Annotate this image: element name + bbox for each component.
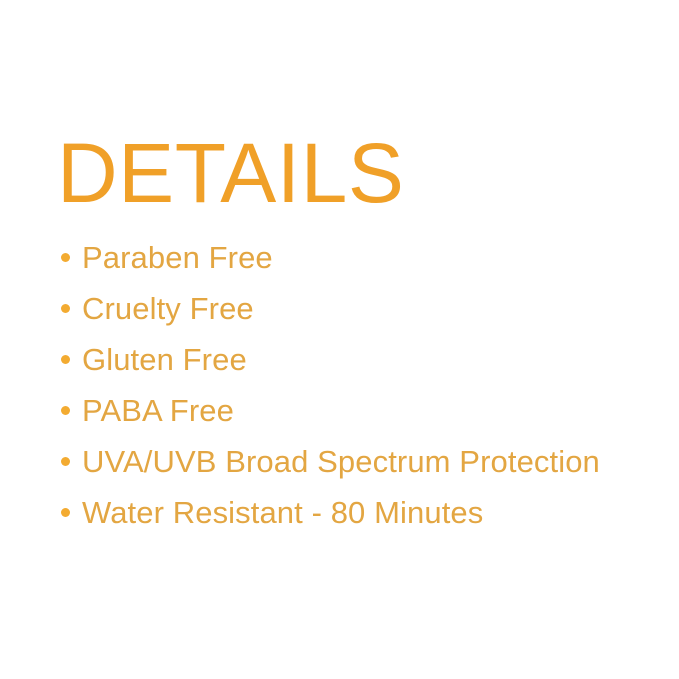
feature-label: Cruelty Free <box>82 293 254 324</box>
feature-label: PABA Free <box>82 395 234 426</box>
bullet-icon <box>61 508 70 517</box>
feature-label: Water Resistant - 80 Minutes <box>82 497 483 528</box>
list-item: PABA Free <box>61 385 661 436</box>
list-item: UVA/UVB Broad Spectrum Protection <box>61 436 661 487</box>
bullet-icon <box>61 355 70 364</box>
bullet-icon <box>61 304 70 313</box>
feature-label: Paraben Free <box>82 242 273 273</box>
feature-label: UVA/UVB Broad Spectrum Protection <box>82 446 600 477</box>
list-item: Cruelty Free <box>61 283 661 334</box>
list-item: Water Resistant - 80 Minutes <box>61 487 661 538</box>
product-details-card: DETAILS Paraben Free Cruelty Free Gluten… <box>0 0 679 679</box>
bullet-icon <box>61 253 70 262</box>
feature-list: Paraben Free Cruelty Free Gluten Free PA… <box>61 232 661 538</box>
bullet-icon <box>61 457 70 466</box>
bullet-icon <box>61 406 70 415</box>
list-item: Paraben Free <box>61 232 661 283</box>
list-item: Gluten Free <box>61 334 661 385</box>
feature-label: Gluten Free <box>82 344 247 375</box>
page-title: DETAILS <box>57 131 404 215</box>
